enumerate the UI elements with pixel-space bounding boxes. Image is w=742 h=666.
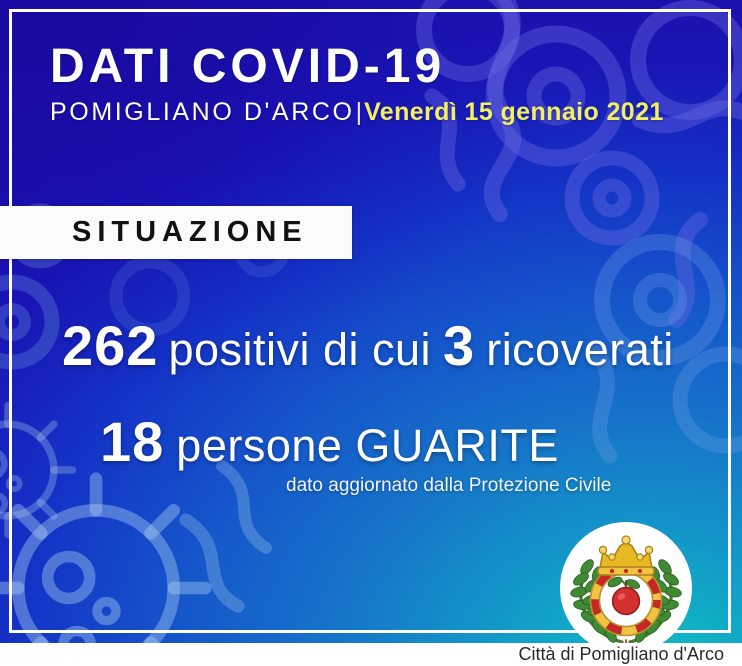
header-subtitle: POMIGLIANO D'ARCO|Venerdì 15 gennaio 202… (50, 99, 710, 127)
coat-of-arms-emblem (560, 522, 692, 654)
data-source-note: dato aggiornato dalla Protezione Civile (286, 476, 742, 495)
stat-row-positives: 262positivi di cui3ricoverati (62, 318, 742, 374)
stat-row-recovered: 18persone GUARITE dato aggiornato dalla … (100, 414, 742, 495)
red-apple (607, 575, 641, 614)
poster-header: DATI COVID-19 POMIGLIANO D'ARCO|Venerdì … (50, 42, 710, 126)
recovered-count: 18 (100, 410, 164, 473)
city-caption: Città di Pomigliano d'Arco (518, 643, 724, 666)
positives-count: 262 (62, 314, 158, 377)
page-title: DATI COVID-19 (50, 42, 710, 93)
subtitle-separator: | (356, 98, 363, 126)
situazione-label: SITUAZIONE (72, 216, 308, 249)
gold-crown (598, 536, 654, 575)
report-date: Venerdì 15 gennaio 2021 (364, 98, 664, 126)
hospitalized-label: ricoverati (486, 324, 674, 375)
statistics-block: 262positivi di cui3ricoverati 18persone … (0, 318, 742, 495)
situazione-banner: SITUAZIONE (0, 206, 352, 259)
coat-of-arms-icon (560, 522, 692, 654)
hospitalized-count: 3 (443, 314, 475, 377)
positives-label: positivi di cui (168, 324, 431, 375)
recovered-label: persone GUARITE (176, 420, 559, 471)
municipality-name: POMIGLIANO D'ARCO (50, 98, 355, 126)
covid-data-poster: DATI COVID-19 POMIGLIANO D'ARCO|Venerdì … (0, 0, 742, 666)
